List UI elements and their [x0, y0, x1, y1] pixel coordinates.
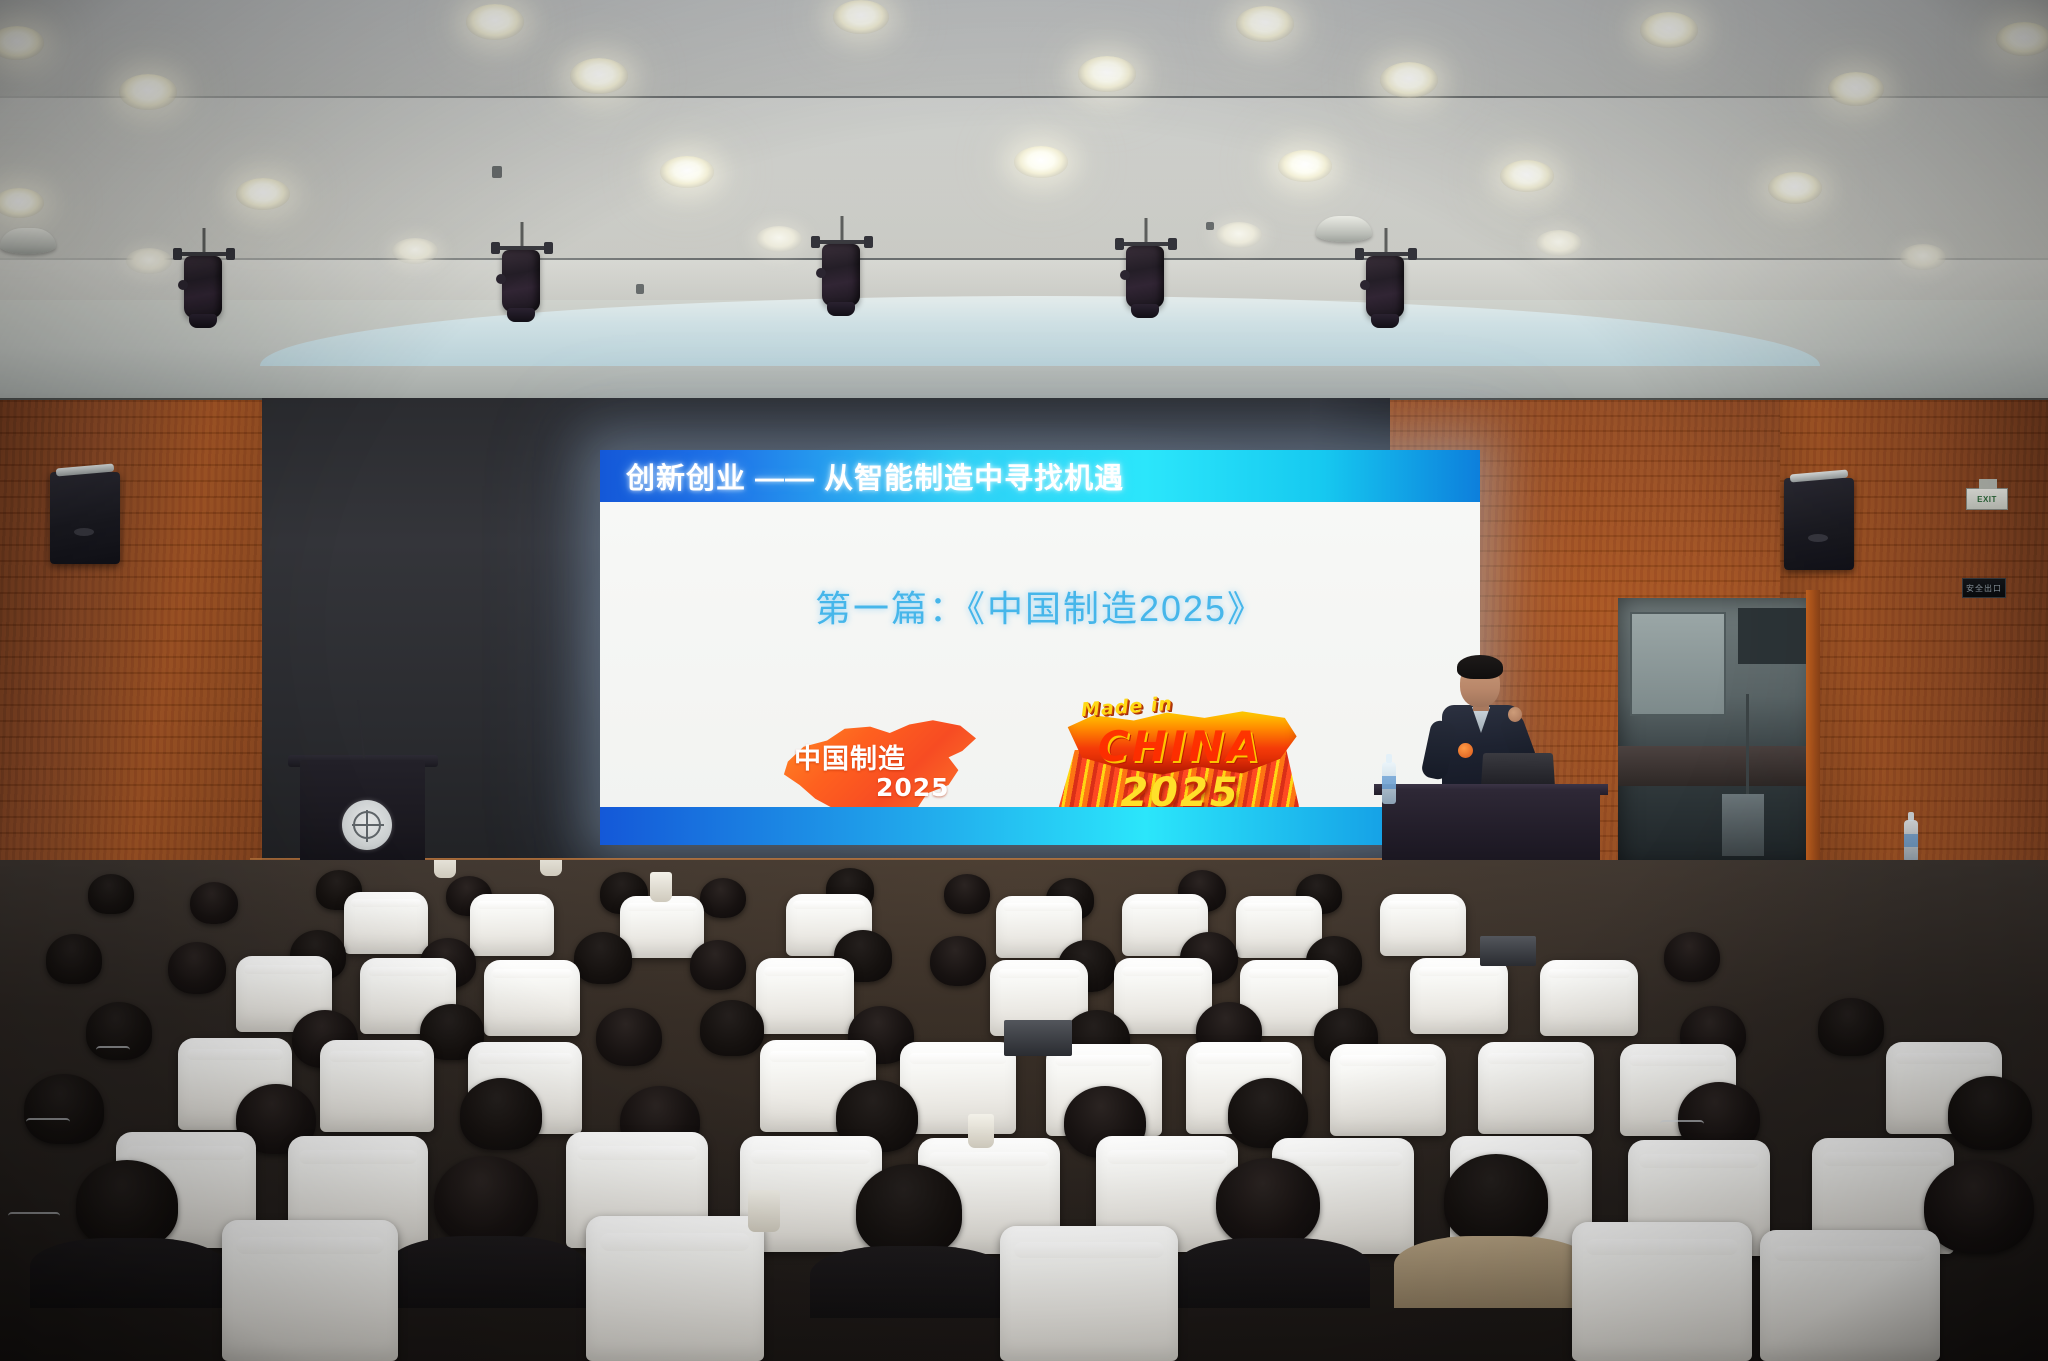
ceiling-downlight	[1278, 150, 1332, 182]
audience-shoulders	[1176, 1238, 1370, 1308]
audience-laptop	[1480, 936, 1536, 966]
lectern-podium[interactable]	[300, 760, 425, 875]
ceiling-downlight	[236, 178, 290, 210]
audience-chair	[1572, 1222, 1752, 1361]
audience-chair	[1410, 958, 1508, 1034]
audience-chair	[756, 958, 854, 1034]
ceiling-downlight	[1500, 160, 1554, 192]
ceiling	[0, 0, 2048, 330]
audience-chair	[586, 1216, 764, 1361]
paper-cup	[434, 860, 456, 878]
slide-heading: 第一篇：《中国制造2025》	[600, 580, 1480, 632]
ceiling-dome-light	[0, 228, 56, 254]
back-room-window	[1630, 612, 1726, 716]
paper-cup	[540, 860, 562, 876]
audience-head	[1948, 1076, 2032, 1150]
water-bottle	[1904, 820, 1918, 862]
audience-chair	[1760, 1230, 1940, 1361]
audience-head	[1216, 1158, 1320, 1248]
ceiling-downlight	[833, 0, 889, 34]
audience-head	[460, 1078, 542, 1150]
notice-sign-label: 安全出口	[1966, 583, 2002, 594]
side-doorway[interactable]	[1618, 598, 1818, 870]
auditorium-scene: EXIT 安全出口 创新创业 —— 从智能制造中寻找机遇 第一篇：《中国制造20…	[0, 0, 2048, 1361]
ceiling-downlight	[756, 226, 802, 252]
water-bottle	[1382, 762, 1396, 804]
back-room-counter	[1618, 746, 1818, 786]
ceiling-downlight	[119, 74, 177, 110]
audience-chair	[620, 896, 704, 958]
audience-chair	[470, 894, 554, 956]
audience-laptop	[1004, 1020, 1072, 1056]
audience-head	[930, 936, 986, 986]
china-map-year: 2025	[876, 773, 950, 802]
paper-cup	[748, 1190, 780, 1232]
ceiling-downlight	[1828, 72, 1884, 106]
projection-screen: 创新创业 —— 从智能制造中寻找机遇 第一篇：《中国制造2025》 中国制造 2…	[600, 450, 1480, 845]
audience-glasses	[96, 1046, 130, 1056]
ceiling-downlight	[1640, 12, 1698, 48]
ceiling-sensor	[636, 284, 644, 294]
audience-head	[190, 882, 238, 924]
wall-speaker-left	[50, 472, 120, 564]
audience-head	[1818, 998, 1884, 1056]
ceiling-downlight	[660, 156, 714, 188]
audience-head	[944, 874, 990, 914]
notice-sign: 安全出口	[1962, 578, 2006, 598]
audience-head	[856, 1164, 962, 1256]
ceiling-downlight	[1768, 172, 1822, 204]
audience-chair	[1000, 1226, 1178, 1361]
audience-shoulders	[1394, 1236, 1592, 1308]
audience-head	[574, 932, 632, 984]
audience-chair	[1478, 1042, 1594, 1134]
audience-seating-area	[0, 860, 2048, 1361]
ceiling-downlight	[1014, 146, 1068, 178]
audience-head	[88, 874, 134, 914]
ceiling-downlight	[1216, 222, 1262, 248]
audience-head	[596, 1008, 662, 1066]
presenter-hand	[1508, 707, 1522, 722]
audience-chair	[344, 892, 428, 954]
ceiling-downlight	[1236, 6, 1294, 42]
ceiling-downlight	[1380, 62, 1438, 98]
audience-glasses	[1660, 1120, 1704, 1130]
back-room-chair	[1722, 794, 1764, 856]
china-map-label: 中国制造	[794, 737, 906, 776]
ceiling-downlight	[1996, 22, 2048, 56]
audience-chair	[1540, 960, 1638, 1036]
audience-head	[1924, 1160, 2034, 1254]
audience-chair	[1380, 894, 1466, 956]
back-room-panel	[1738, 608, 1808, 664]
slide-title-banner: 创新创业 —— 从智能制造中寻找机遇	[600, 450, 1480, 502]
audience-chair	[222, 1220, 398, 1361]
audience-head	[24, 1074, 104, 1144]
wall-left-wood	[0, 400, 270, 900]
ceiling-downlight	[392, 238, 438, 264]
audience-head	[76, 1160, 178, 1248]
audience-glasses	[8, 1212, 60, 1222]
door-jamb	[1806, 590, 1820, 876]
burst-wordmark-label: CHINA	[1055, 722, 1305, 771]
stage-spotlight	[172, 250, 236, 336]
ceiling-sensor	[1206, 222, 1214, 230]
stage-spotlight	[810, 238, 874, 324]
stage-spotlight	[1114, 240, 1178, 326]
audience-head	[690, 940, 746, 990]
exit-sign-label: EXIT	[1977, 495, 1997, 504]
stage-spotlight	[490, 244, 554, 330]
ceiling-downlight	[1536, 230, 1582, 256]
exit-sign: EXIT	[1966, 488, 2008, 510]
audience-shoulders	[388, 1236, 586, 1308]
audience-chair	[484, 960, 580, 1036]
slide-banner-title: 创新创业 —— 从智能制造中寻找机遇	[626, 455, 1124, 497]
ceiling-downlight	[1078, 56, 1136, 92]
ceiling-downlight	[466, 4, 524, 40]
audience-head	[46, 934, 102, 984]
audience-head	[700, 1000, 764, 1056]
audience-head	[168, 942, 226, 994]
ceiling-sensor	[492, 166, 502, 178]
audience-head	[434, 1156, 538, 1246]
stage-spotlight	[1354, 250, 1418, 336]
paper-cup	[968, 1114, 994, 1148]
ceiling-dome-light	[1316, 216, 1372, 242]
audience-head	[1444, 1154, 1548, 1244]
audience-chair	[1330, 1044, 1446, 1136]
audience-head	[700, 878, 746, 918]
slide-footer-bar	[600, 807, 1480, 845]
slide-body: 第一篇：《中国制造2025》 中国制造 2025 Made in CHINA 2…	[600, 502, 1480, 807]
back-room-stand	[1746, 694, 1749, 802]
audience-chair	[320, 1040, 434, 1132]
university-crest-emblem	[342, 800, 392, 850]
audience-head	[1664, 932, 1720, 982]
audience-shoulders	[810, 1246, 1010, 1318]
ceiling-downlight	[126, 248, 172, 274]
audience-shoulders	[30, 1238, 226, 1308]
ceiling-downlight	[570, 58, 628, 94]
ceiling-downlight	[1900, 244, 1946, 270]
audience-glasses	[26, 1118, 70, 1128]
paper-cup	[650, 872, 672, 902]
handheld-microphone	[1458, 743, 1473, 758]
wall-speaker-right	[1784, 478, 1854, 570]
